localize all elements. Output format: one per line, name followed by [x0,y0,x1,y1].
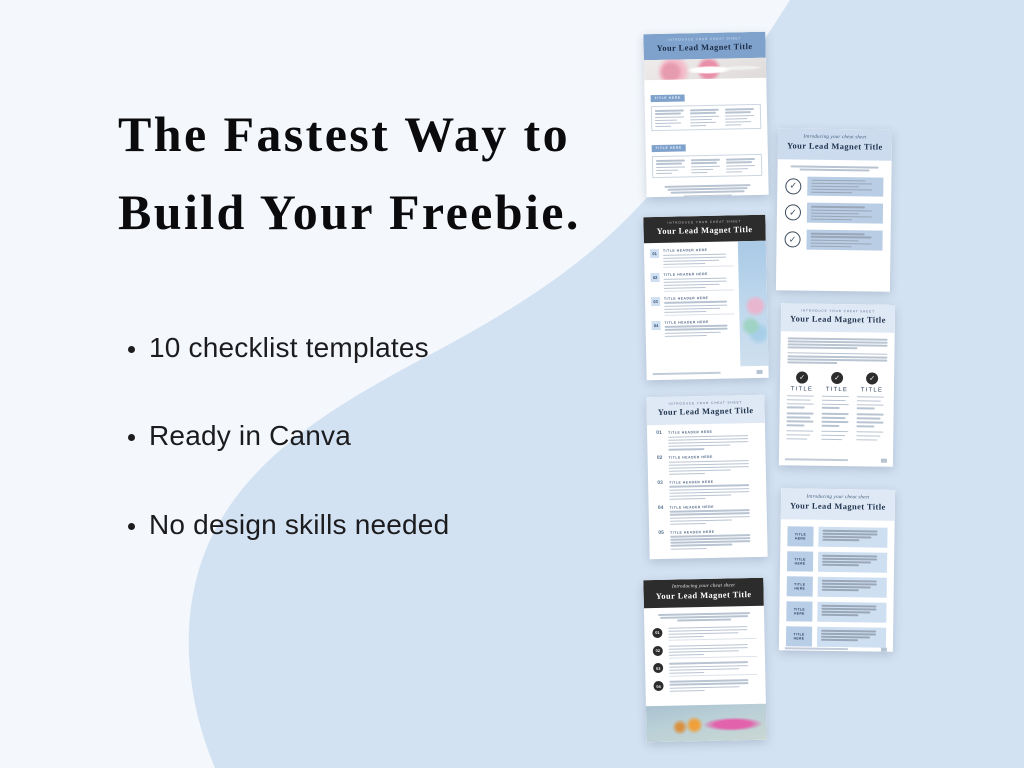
template-card-three-columns[interactable]: INTRODUCE YOUR CHEAT SHEET Your Lead Mag… [779,303,895,467]
numbered-item: 01 TITLE HEADER HERE [650,248,733,269]
bullet-dot-icon [128,346,135,353]
numbered-item: 02 TITLE HEADER HERE [656,454,758,476]
column-bullets [726,158,758,173]
card-photo-floral [644,58,766,81]
item-number: 04 [657,506,665,526]
feature-column: ✓ TITLE [856,372,887,441]
footer-logo-mark [757,370,763,374]
column-bullets [691,159,723,174]
card-title: Your Lead Magnet Title [651,406,761,419]
footer-logo-mark [881,459,887,463]
card-intro [780,331,894,364]
feature-list: 10 checklist templates Ready in Canva No… [128,330,598,543]
template-card-title-chips[interactable]: Introducing your cheat sheet Your Lead M… [779,488,895,652]
numbered-item: 04 TITLE HEADER HERE [651,319,734,337]
check-circle-outline-icon: ✓ [784,232,800,248]
chip-row: TITLEHERE [787,576,887,597]
chip-row: TITLEHERE [786,601,886,622]
chip-row: TITLEHERE [787,551,887,572]
column-title: TITLE [826,387,848,393]
card-title: Your Lead Magnet Title [785,314,891,326]
item-number: 04 [651,321,660,330]
feature-column: ✓ TITLE [821,372,852,441]
chip-label: TITLEHERE [786,626,812,646]
numbered-item: 04 [653,679,757,692]
item-number: 02 [653,645,663,655]
card-title: Your Lead Magnet Title [648,42,762,55]
bullet-dot-icon [128,434,135,441]
card-title: Your Lead Magnet Title [785,501,891,513]
item-number: 03 [651,297,660,306]
card-title: Your Lead Magnet Title [648,589,760,602]
card-header: Introducing your cheat sheet Your Lead M… [643,578,764,609]
list-item: No design skills needed [128,507,598,543]
check-row: ✓ [785,176,883,197]
check-circle-outline-icon: ✓ [785,178,801,194]
check-circle-solid-icon: ✓ [796,371,808,383]
template-card-dark-numbered[interactable]: Introducing your cheat sheet Your Lead M… [643,578,766,742]
card-title: Your Lead Magnet Title [648,225,762,238]
card-header: INTRODUCE YOUR CHEAT SHEET Your Lead Mag… [646,395,765,426]
section-label: TITLE HERE [652,144,686,152]
item-number: 01 [652,628,662,638]
headline-line-2: Build Your Freebie. [118,174,638,252]
footer-text-line [653,372,721,375]
check-circle-solid-icon: ✓ [866,372,878,384]
column-bullets [655,110,687,128]
column-title: TITLE [791,386,813,392]
numbered-item: 05 TITLE HEADER HERE [657,529,759,551]
feature-column: ✓ TITLE [786,371,817,440]
bullet-dot-icon [128,523,135,530]
numbered-item: 01 [652,626,756,642]
item-header: TITLE HEADER HERE [663,271,733,276]
template-card-numbered-list-five[interactable]: INTRODUCE YOUR CHEAT SHEET Your Lead Mag… [646,395,767,559]
list-item-label: No design skills needed [149,507,449,543]
item-header: TITLE HEADER HERE [664,319,734,324]
card-footer [779,457,893,467]
column-bullets [690,109,722,127]
item-number: 03 [653,663,663,673]
list-item: Ready in Canva [128,418,598,454]
chip-label: TITLEHERE [787,526,813,546]
chip-row: TITLEHERE [787,526,887,547]
column-bullets [725,108,757,126]
card-photo-blue-flower [738,241,769,366]
template-card-checkmarks[interactable]: Introducing your cheat sheet Your Lead M… [776,128,892,292]
headline-line-1: The Fastest Way to [118,96,638,174]
card-header: introduce your cheat sheet Your Lead Mag… [643,215,766,244]
item-number: 01 [655,431,663,451]
list-item-label: Ready in Canva [149,418,351,454]
item-number: 03 [656,481,664,501]
numbered-item: 01 TITLE HEADER HERE [655,429,757,451]
card-photo-pink-flower [646,704,767,743]
copy-block: The Fastest Way to Build Your Freebie. 1… [0,0,620,768]
check-row: ✓ [785,203,883,224]
numbered-item: 02 TITLE HEADER HERE [650,271,733,292]
check-row: ✓ [784,230,882,251]
footer-text-line [785,459,848,461]
card-footer [646,366,768,381]
chip-label: TITLEHERE [787,551,813,571]
template-card-floral-two-section[interactable]: introduce your cheat sheet Your Lead Mag… [643,32,768,198]
card-header: Introducing your cheat sheet Your Lead M… [781,488,895,521]
card-header: INTRODUCE YOUR CHEAT SHEET Your Lead Mag… [781,303,895,333]
item-number: 02 [656,456,664,476]
template-card-numbered-photo[interactable]: introduce your cheat sheet Your Lead Mag… [643,215,768,381]
column-title: TITLE [861,387,883,393]
item-number: 01 [650,249,659,258]
list-item: 10 checklist templates [128,330,598,366]
numbered-item: 03 [653,661,757,677]
chip-label: TITLEHERE [787,576,813,596]
chip-row: TITLEHERE [786,626,886,647]
item-number: 04 [653,681,663,691]
page-title: The Fastest Way to Build Your Freebie. [118,96,638,251]
chip-label: TITLEHERE [786,601,812,621]
footer-logo-mark [881,648,887,652]
section-label: TITLE HERE [651,94,685,102]
footer-text-line [785,648,848,650]
item-number: 05 [657,531,665,551]
numbered-item: 04 TITLE HEADER HERE [657,504,759,526]
item-header: TITLE HEADER HERE [664,295,734,300]
card-header: introduce your cheat sheet Your Lead Mag… [643,32,766,61]
numbered-item: 03 TITLE HEADER HERE [651,295,734,316]
card-title: Your Lead Magnet Title [782,141,888,153]
list-item-label: 10 checklist templates [149,330,429,366]
check-circle-solid-icon: ✓ [831,372,843,384]
column-bullets [656,160,688,175]
numbered-item: 02 [653,643,757,659]
slide-canvas: The Fastest Way to Build Your Freebie. 1… [0,0,1024,768]
card-header: Introducing your cheat sheet Your Lead M… [778,128,892,161]
item-number: 02 [650,273,659,282]
item-header: TITLE HEADER HERE [663,248,733,253]
numbered-item: 03 TITLE HEADER HERE [656,479,758,501]
check-circle-outline-icon: ✓ [785,205,801,221]
card-closing-paragraph [646,176,768,197]
